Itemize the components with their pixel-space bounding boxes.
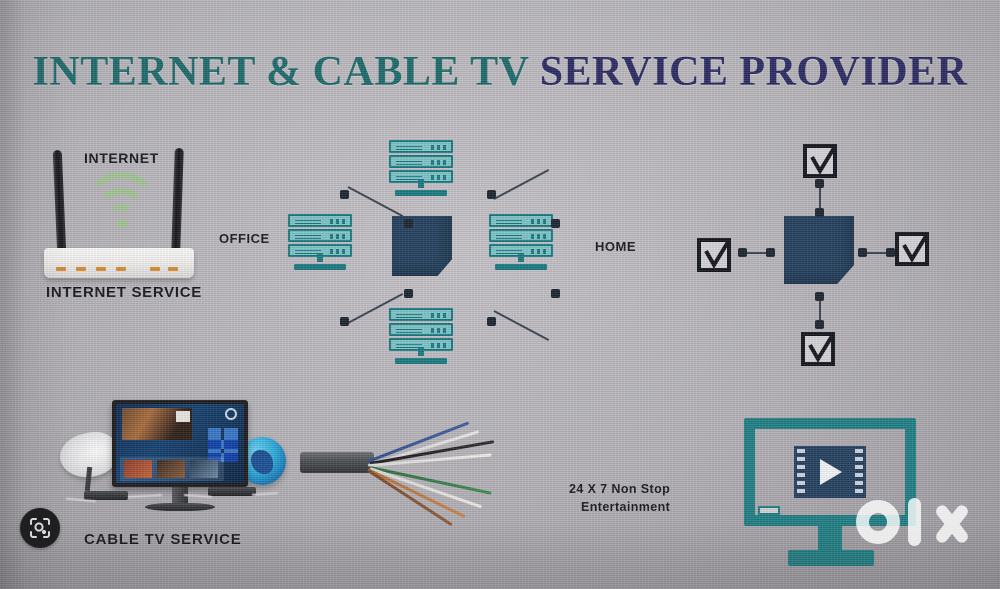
olx-letter-x xyxy=(930,504,974,544)
network-node-dot xyxy=(815,179,824,188)
router-led xyxy=(116,267,126,271)
title-part-internet-cable: INTERNET & CABLE TV xyxy=(33,49,540,95)
network-node-dot xyxy=(487,190,496,199)
tv-stand-base xyxy=(145,503,215,511)
play-triangle-icon xyxy=(820,459,842,485)
tv-thumbnail xyxy=(190,460,218,478)
router-antenna-left-icon xyxy=(53,150,67,254)
network-node-dot xyxy=(340,317,349,326)
cable-jacket xyxy=(300,452,374,473)
router-led xyxy=(56,267,66,271)
network-node-dot xyxy=(551,219,560,228)
checked-checkbox-icon xyxy=(801,332,835,366)
server-rack-icon xyxy=(489,214,553,270)
router-led xyxy=(168,267,178,271)
tv-screen-content xyxy=(116,404,244,483)
filmstrip-icon xyxy=(794,446,866,498)
router-led xyxy=(76,267,86,271)
network-node-dot xyxy=(886,248,895,257)
checked-checkbox-icon xyxy=(803,144,837,178)
network-node-dot xyxy=(738,248,747,257)
checked-checkbox-icon xyxy=(697,238,731,272)
cable-wire xyxy=(252,492,278,496)
network-node-dot xyxy=(815,292,824,301)
server-rack-icon xyxy=(389,140,453,196)
satellite-dish-arm xyxy=(85,467,92,491)
wifi-signal-icon xyxy=(84,166,158,232)
monitor-stand-neck xyxy=(818,526,842,552)
checked-checkbox-icon xyxy=(895,232,929,266)
network-node-dot xyxy=(815,320,824,329)
server-rack-icon xyxy=(288,214,352,270)
google-lens-icon[interactable] xyxy=(20,508,60,548)
monitor-indicator xyxy=(758,506,780,515)
router-antenna-right-icon xyxy=(171,148,184,252)
page-title: INTERNET & CABLE TV SERVICE PROVIDER xyxy=(0,48,1000,96)
label-internet: INTERNET xyxy=(84,150,159,166)
label-entertainment-line2: Entertainment xyxy=(581,500,670,514)
ethernet-cable-icon xyxy=(300,420,530,530)
set-top-box-icon xyxy=(208,487,256,496)
network-chip-icon xyxy=(784,216,854,284)
label-entertainment-line1: 24 X 7 Non Stop xyxy=(569,482,670,496)
network-node-dot xyxy=(766,248,775,257)
network-link xyxy=(494,169,550,200)
title-part-service-provider: SERVICE PROVIDER xyxy=(540,49,968,95)
server-rack-icon xyxy=(389,308,453,364)
network-node-dot xyxy=(858,248,867,257)
tv-hero-image xyxy=(122,408,192,440)
network-node-dot xyxy=(340,190,349,199)
network-node-dot xyxy=(551,289,560,298)
olx-letter-l xyxy=(908,498,921,546)
olx-letter-o xyxy=(856,500,900,544)
network-chip-icon xyxy=(392,216,452,276)
label-office: OFFICE xyxy=(219,231,270,246)
tv-logo-icon xyxy=(225,408,237,420)
network-node-dot xyxy=(404,219,413,228)
label-internet-service: INTERNET SERVICE xyxy=(46,284,202,301)
router-led xyxy=(150,267,160,271)
tv-thumbnail xyxy=(157,460,185,478)
network-link xyxy=(494,310,550,341)
tv-thumbnail xyxy=(124,460,152,478)
network-node-dot xyxy=(487,317,496,326)
screenshot-photo: INTERNET & CABLE TV SERVICE PROVIDER INT… xyxy=(0,0,1000,589)
label-home: HOME xyxy=(595,239,636,254)
cable-tv-photo xyxy=(60,395,290,520)
cable-wire xyxy=(128,494,162,498)
network-node-dot xyxy=(815,208,824,217)
set-top-box-icon xyxy=(84,491,128,500)
router-led xyxy=(96,267,106,271)
cable-strand-brown xyxy=(367,469,453,526)
television-icon xyxy=(112,400,248,487)
wifi-router-icon xyxy=(44,148,244,293)
label-cable-tv-service: CABLE TV SERVICE xyxy=(84,531,242,548)
router-body xyxy=(44,248,194,278)
network-node-dot xyxy=(404,289,413,298)
olx-watermark xyxy=(856,492,982,554)
